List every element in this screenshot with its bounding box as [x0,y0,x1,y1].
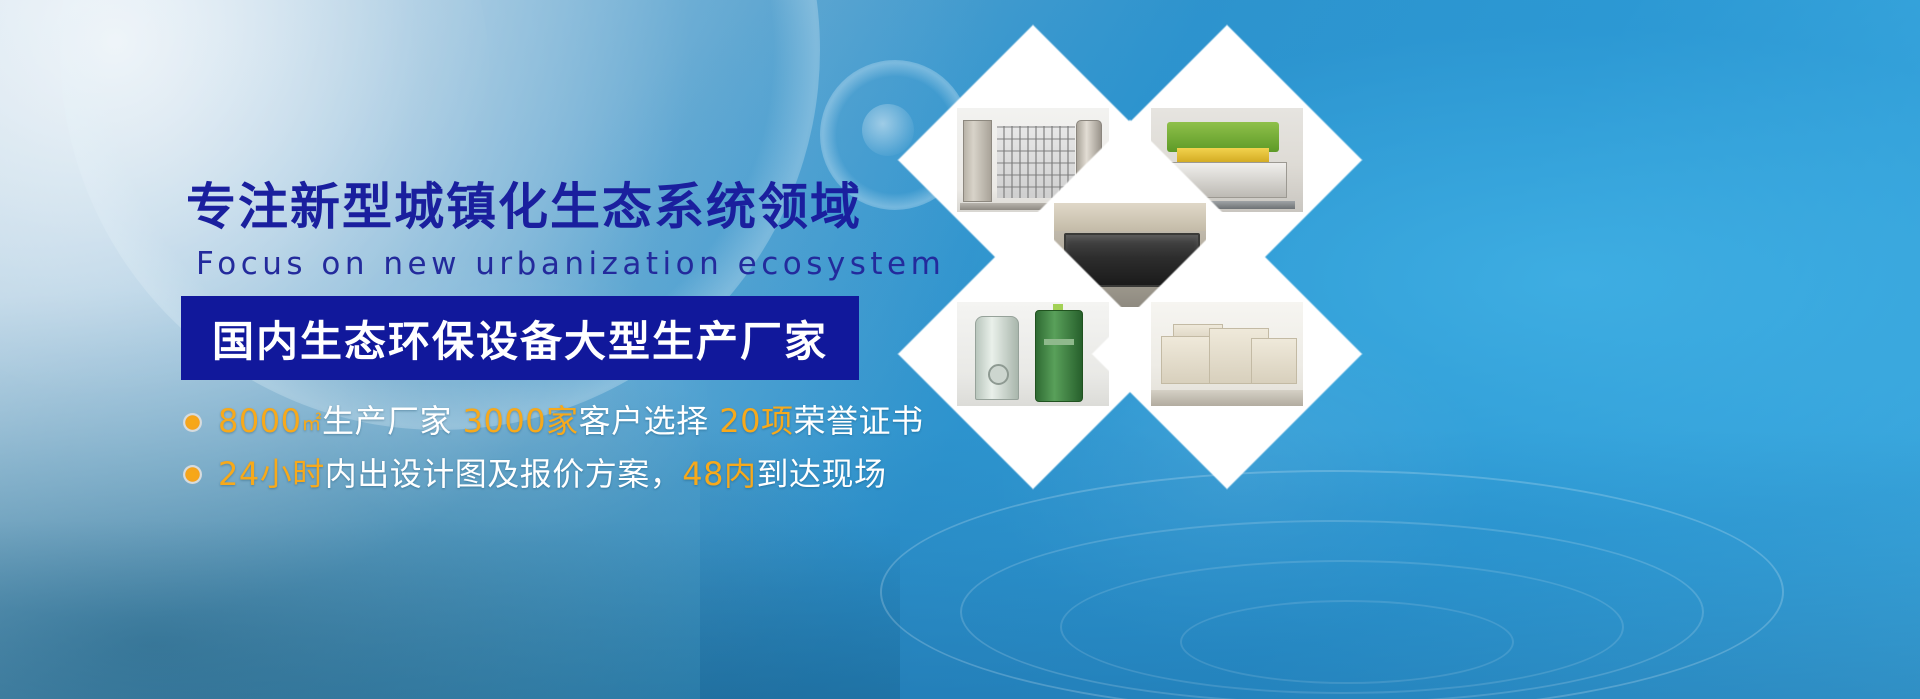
hero-banner: 专注新型城镇化生态系统领域 Focus on new urbanization … [0,0,1920,699]
water-ripple-icon [1180,600,1514,684]
page-title: 专注新型城镇化生态系统领域 [186,178,862,236]
dot-bullet-icon [183,465,202,484]
list-item: 8000㎡生产厂家 3000家客户选择 20项荣誉证书 [181,396,921,448]
tagline-text: 国内生态环保设备大型生产厂家 [181,296,859,380]
lift-pump-station-photo [957,302,1109,406]
feature-line-2: 24小时内出设计图及报价方案，48内到达现场 [218,455,887,493]
dot-bullet-icon [183,413,202,432]
feature-list: 8000㎡生产厂家 3000家客户选择 20项荣誉证书 24小时内出设计图及报价… [181,396,921,500]
product-diamond-gallery [900,45,1320,475]
banner-text-block: 专注新型城镇化生态系统领域 Focus on new urbanization … [0,0,920,699]
water-ripple-icon [880,470,1784,699]
tagline-box: 国内生态环保设备大型生产厂家 [181,296,859,380]
feature-line-1: 8000㎡生产厂家 3000家客户选择 20项荣誉证书 [218,402,924,442]
list-item: 24小时内出设计图及报价方案，48内到达现场 [181,448,921,500]
aerated-block-stack-photo [1151,302,1303,406]
page-subtitle: Focus on new urbanization ecosystem [196,245,945,283]
water-ripple-icon [1060,560,1624,694]
water-ripple-icon [960,520,1704,699]
